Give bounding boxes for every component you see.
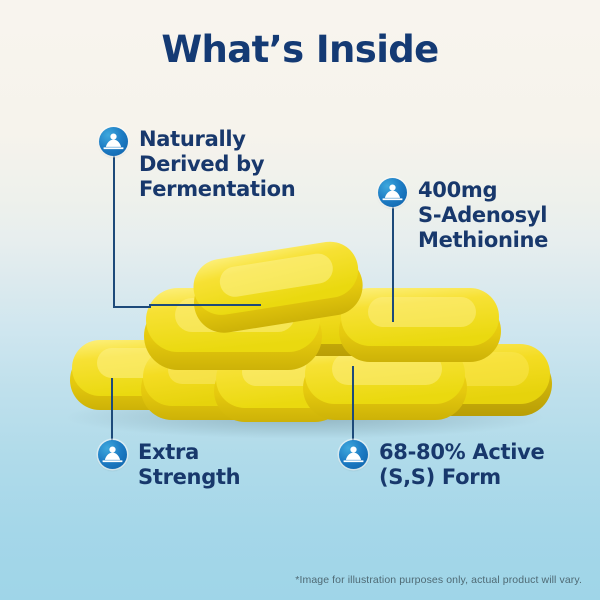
callout-label: 68-80% Active (S,S) Form	[379, 440, 545, 490]
product-infographic: What’s Inside	[0, 0, 600, 600]
meditating-figure-icon	[378, 178, 407, 207]
meditating-figure-icon	[99, 127, 128, 156]
callout-naturally-derived-by-fermentation[interactable]: Naturally Derived by Fermentation	[99, 127, 295, 202]
callout-label: 400mg S-Adenosyl Methionine	[418, 178, 548, 253]
disclaimer-footnote: *Image for illustration purposes only, a…	[295, 574, 582, 586]
leader-line-active-form	[352, 366, 356, 442]
leader-line-extra-strength	[111, 378, 115, 442]
callout-68-80-active-ss-form[interactable]: 68-80% Active (S,S) Form	[339, 440, 545, 490]
callout-400mg-s-adenosyl-methionine[interactable]: 400mg S-Adenosyl Methionine	[378, 178, 548, 253]
callout-label: Naturally Derived by Fermentation	[139, 127, 295, 202]
product-tablet-pile-image	[0, 0, 600, 600]
callout-label: Extra Strength	[138, 440, 240, 490]
meditating-figure-icon	[339, 440, 368, 469]
meditating-figure-icon	[98, 440, 127, 469]
leader-line-naturally-derived-arm	[149, 304, 261, 308]
callout-extra-strength[interactable]: Extra Strength	[98, 440, 240, 490]
